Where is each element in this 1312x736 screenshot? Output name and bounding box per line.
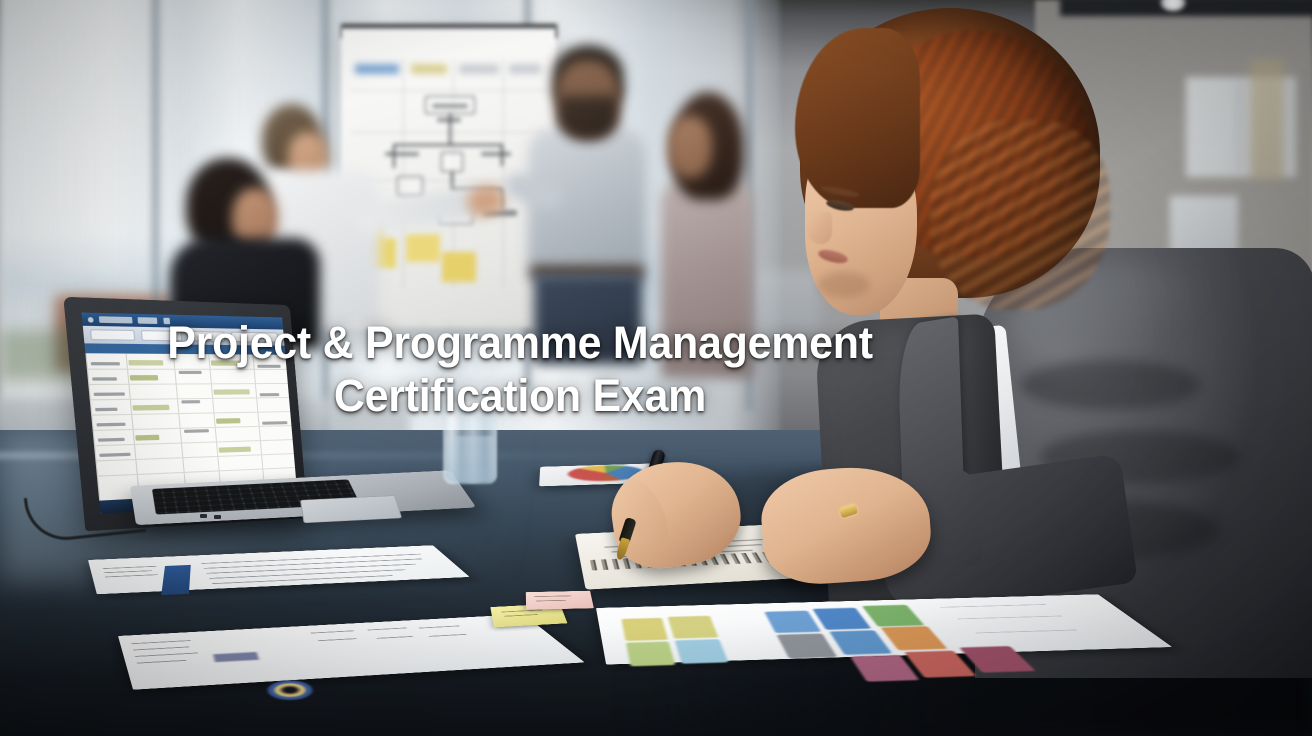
flipchart-node-root bbox=[425, 96, 475, 114]
glass-rim bbox=[443, 402, 497, 411]
background-man-legs bbox=[534, 274, 642, 364]
desk-sticky-note-pink bbox=[526, 591, 594, 610]
background-man-beard bbox=[558, 96, 618, 140]
hero-banner-image: Project & Programme Management Certifica… bbox=[0, 0, 1312, 736]
flipchart-node-mid bbox=[441, 152, 463, 172]
blazer-fold bbox=[1020, 360, 1200, 410]
sticky-note bbox=[442, 252, 476, 282]
wall-frame bbox=[1250, 60, 1284, 180]
hair-wave-detail bbox=[930, 120, 1110, 310]
glass-water-level bbox=[446, 436, 494, 482]
sticky-note bbox=[406, 234, 440, 262]
chin-shadow bbox=[818, 272, 870, 298]
woman-nose bbox=[806, 212, 832, 244]
laptop-port bbox=[214, 515, 221, 519]
ceiling-band bbox=[1060, 0, 1312, 16]
app-ribbon[interactable] bbox=[83, 326, 285, 346]
laptop-port bbox=[200, 514, 207, 518]
background-woman-face bbox=[668, 116, 712, 178]
flipchart-node-left bbox=[397, 176, 423, 196]
background-woman-body bbox=[661, 178, 753, 378]
